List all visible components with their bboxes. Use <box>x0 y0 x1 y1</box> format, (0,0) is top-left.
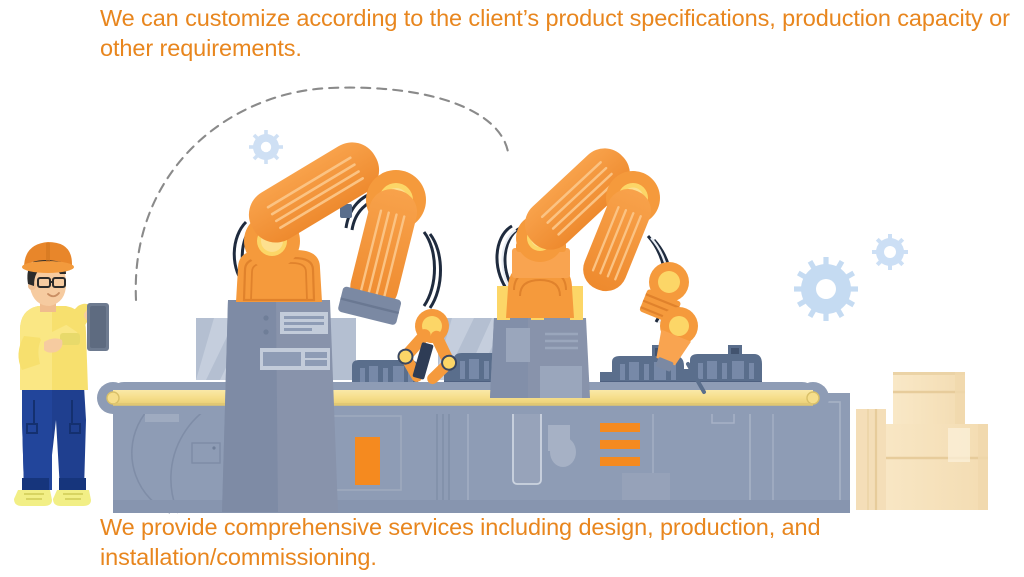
gear-icon-small <box>249 130 283 164</box>
conveyor-belt <box>97 382 829 414</box>
robot-arm-right <box>490 138 704 398</box>
worker-with-tablet <box>14 242 109 506</box>
orange-indicator-stripes <box>600 423 640 466</box>
scene-illustration <box>0 0 1024 577</box>
illustration-stage: We can customize according to the client… <box>0 0 1024 577</box>
robot-base-right <box>490 318 590 398</box>
caption-bottom: We provide comprehensive services includ… <box>100 512 1015 572</box>
cardboard-boxes <box>856 372 988 510</box>
caption-top: We can customize according to the client… <box>100 3 1015 63</box>
gear-icon-large <box>782 245 869 332</box>
robot-base-left <box>222 300 338 512</box>
gear-icon-medium <box>865 227 916 278</box>
